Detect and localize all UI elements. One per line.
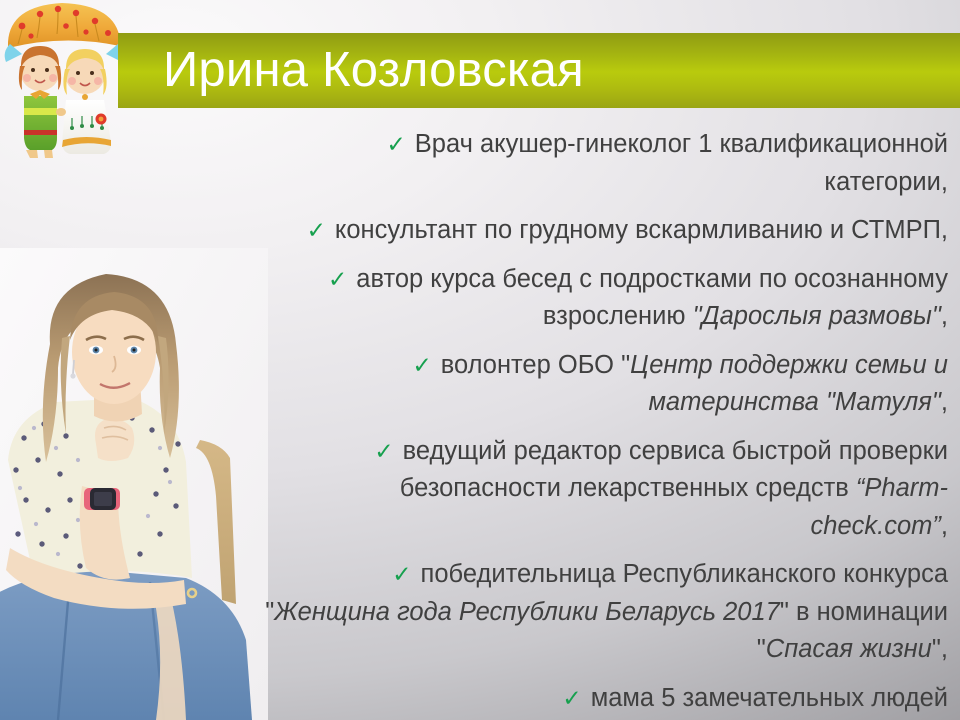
bullet-text-emphasis: Женщина года Республики Беларусь 2017 <box>274 598 780 626</box>
bullet-text: волонтер ОБО " <box>441 351 630 379</box>
bullet-text: мама 5 замечательных людей <box>591 684 948 712</box>
bullet-text: , <box>941 302 948 330</box>
bullet-qualification: ✓Врач акушер-гинеколог 1 квалификационно… <box>265 126 948 201</box>
checkmark-icon: ✓ <box>562 680 581 718</box>
bullet-text: консультант по грудному вскармливанию и … <box>335 216 948 244</box>
portrait-photo-svg <box>0 248 268 720</box>
bullet-text: , <box>941 388 948 416</box>
slide-canvas: Ирина Козловская <box>0 0 960 720</box>
bullet-award: ✓победительница Республиканского конкурс… <box>265 556 948 669</box>
checkmark-icon: ✓ <box>412 347 431 385</box>
bullet-text: , <box>941 512 948 540</box>
bullet-course-author: ✓автор курса бесед с подростками по осоз… <box>265 261 948 336</box>
dolls-figurine-svg <box>0 0 128 160</box>
dolls-figurine-image <box>0 0 128 160</box>
bullet-consultant: ✓консультант по грудному вскармливанию и… <box>265 212 948 250</box>
checkmark-icon: ✓ <box>387 126 406 164</box>
checkmark-icon: ✓ <box>307 212 326 250</box>
bullet-text-emphasis: Центр поддержки семьи и материнства "Мат… <box>630 351 948 417</box>
bullet-mother: ✓мама 5 замечательных людей <box>265 680 948 718</box>
bullet-text-emphasis: Спасая жизни <box>766 635 932 663</box>
bullet-text: ", <box>932 635 948 663</box>
bullet-list: ✓Врач акушер-гинеколог 1 квалификационно… <box>265 126 948 717</box>
checkmark-icon: ✓ <box>392 556 411 594</box>
portrait-photo <box>0 248 268 720</box>
page-title: Ирина Козловская <box>163 33 953 108</box>
bullet-text-emphasis: "Дарослыя размовы" <box>693 302 941 330</box>
checkmark-icon: ✓ <box>328 261 347 299</box>
bullet-editor: ✓ведущий редактор сервиса быстрой провер… <box>265 433 948 546</box>
checkmark-icon: ✓ <box>374 433 393 471</box>
bullet-text: Врач акушер-гинеколог 1 квалификационной… <box>415 130 948 196</box>
bullet-volunteer: ✓волонтер ОБО "Центр поддержки семьи и м… <box>265 347 948 422</box>
